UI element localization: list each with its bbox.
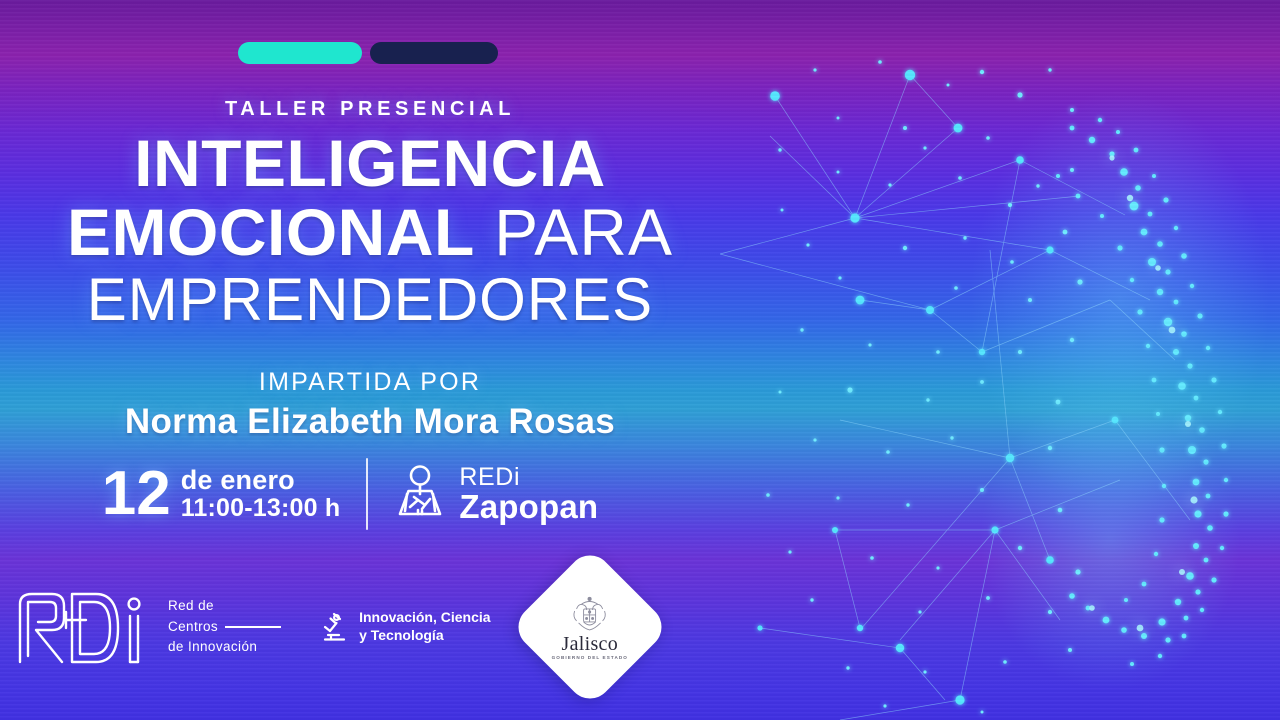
ict-line-2: y Tecnología xyxy=(359,627,444,643)
title-line-2-bold: EMOCIONAL xyxy=(67,195,475,269)
details-divider xyxy=(366,458,368,530)
title-line-2: EMOCIONAL PARA xyxy=(0,201,740,264)
event-poster: TALLER PRESENCIAL INTELIGENCIA EMOCIONAL… xyxy=(0,0,1280,720)
jalisco-name: Jalisco xyxy=(561,634,618,654)
jalisco-subtitle: GOBIERNO DEL ESTADO xyxy=(551,655,627,660)
redi-tagline-line2: Centros xyxy=(168,617,218,638)
ict-line-1: Innovación, Ciencia xyxy=(359,609,490,625)
logo-bar: Red de Centros de Innovación xyxy=(14,570,647,684)
jalisco-logo: Jalisco GOBIERNO DEL ESTADO xyxy=(509,546,670,707)
presented-by-label: IMPARTIDA POR xyxy=(0,368,740,397)
event-month: de enero xyxy=(181,466,341,495)
poster-content: TALLER PRESENCIAL INTELIGENCIA EMOCIONAL… xyxy=(0,0,740,720)
event-day: 12 xyxy=(102,467,171,520)
redi-logo: Red de Centros de Innovación xyxy=(14,588,281,666)
pill-cyan xyxy=(238,42,362,64)
neural-network-head-graphic xyxy=(720,0,1280,720)
ict-logo: Innovación, Ciencia y Tecnología xyxy=(319,609,490,645)
eyebrow-label: TALLER PRESENCIAL xyxy=(0,98,740,121)
redi-wordmark-icon xyxy=(14,588,154,666)
title-line-2-light: PARA xyxy=(475,195,673,269)
coat-of-arms-icon xyxy=(567,595,613,633)
decorative-pills xyxy=(238,42,498,64)
title-line-1: INTELIGENCIA xyxy=(0,132,740,195)
map-pin-icon xyxy=(394,464,446,525)
tagline-rule xyxy=(225,626,281,628)
event-details: 12 de enero 11:00-13:00 h xyxy=(0,458,700,530)
presenter-name: Norma Elizabeth Mora Rosas xyxy=(0,402,740,442)
pill-navy xyxy=(370,42,498,64)
redi-tagline-line1: Red de xyxy=(168,598,214,613)
venue-name: Zapopan xyxy=(459,490,598,525)
microscope-icon xyxy=(319,610,349,644)
redi-tagline-line3: de Innovación xyxy=(168,639,257,654)
title-line-3: EMPRENDEDORES xyxy=(0,271,740,329)
date-group: 12 de enero 11:00-13:00 h xyxy=(102,466,341,521)
redi-tagline: Red de Centros de Innovación xyxy=(168,596,281,658)
venue-label: REDi xyxy=(459,464,598,490)
event-time: 11:00-13:00 h xyxy=(181,495,341,522)
venue-group: REDi Zapopan xyxy=(394,464,598,525)
page-title: INTELIGENCIA EMOCIONAL PARA EMPRENDEDORE… xyxy=(0,132,740,328)
